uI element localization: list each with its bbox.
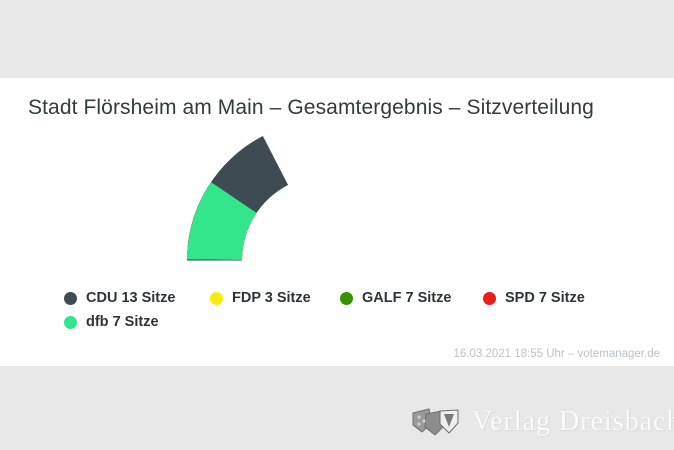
half-donut-svg [186, 120, 468, 265]
legend-swatch-icon [483, 292, 496, 305]
coat-of-arms-icon [410, 405, 466, 439]
legend-swatch-icon [64, 316, 77, 329]
legend-item-label: SPD 7 Sitze [505, 290, 585, 306]
legend-item-galf[interactable]: GALF 7 Sitze [340, 290, 483, 306]
legend-item-dfb[interactable]: dfb 7 Sitze [64, 314, 159, 330]
legend-row: CDU 13 Sitze FDP 3 Sitze GALF 7 Sitze SP… [0, 286, 674, 310]
legend-item-label: CDU 13 Sitze [86, 290, 175, 306]
legend-item-label: GALF 7 Sitze [362, 290, 451, 306]
watermark-label: Verlag Dreisbach [472, 406, 674, 438]
legend-item-label: dfb 7 Sitze [86, 314, 159, 330]
watermark: Verlag Dreisbach [410, 400, 660, 444]
legend-swatch-icon [64, 292, 77, 305]
legend-swatch-icon [210, 292, 223, 305]
chart-legend: CDU 13 Sitze FDP 3 Sitze GALF 7 Sitze SP… [0, 286, 674, 334]
seat-distribution-chart [0, 120, 674, 272]
page-title: Stadt Flörsheim am Main – Gesamtergebnis… [28, 96, 594, 120]
legend-item-label: FDP 3 Sitze [232, 290, 311, 306]
legend-row: dfb 7 Sitze [0, 310, 674, 334]
legend-item-spd[interactable]: SPD 7 Sitze [483, 290, 603, 306]
legend-swatch-icon [340, 292, 353, 305]
legend-item-cdu[interactable]: CDU 13 Sitze [64, 290, 210, 306]
legend-item-fdp[interactable]: FDP 3 Sitze [210, 290, 340, 306]
chart-timestamp: 16.03.2021 18:55 Uhr – votemanager.de [453, 348, 660, 360]
chart-card: Stadt Flörsheim am Main – Gesamtergebnis… [0, 78, 674, 366]
